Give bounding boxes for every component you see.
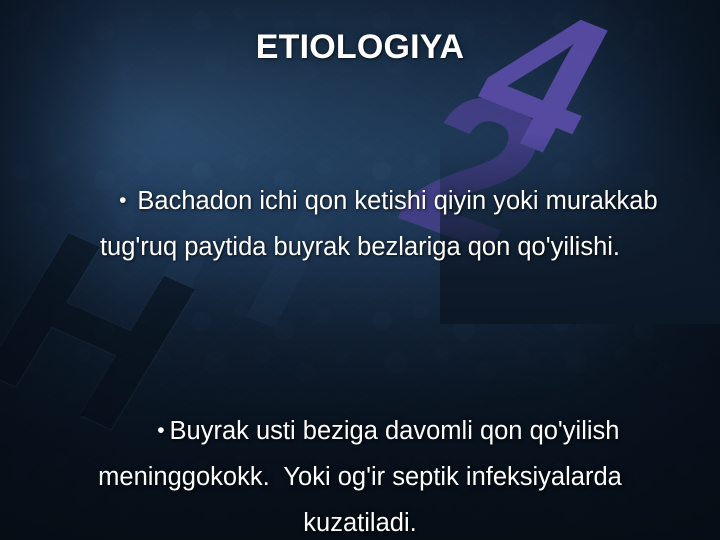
bullet-paragraph-2-text: Buyrak usti beziga davomli qon qo'yilish… (98, 417, 629, 537)
bullet-paragraph-1-text: Bachadon ichi qon ketishi qiyin yoki mur… (100, 187, 665, 261)
bullet-paragraph-1: •Bachadon ichi qon ketishi qiyin yoki mu… (50, 132, 670, 316)
page-title: ETIOLOGIYA (0, 28, 720, 67)
presentation-slide: H H 2 4 ETIOLOGIYA •Bachadon ichi qon ke… (0, 0, 720, 540)
bullet-paragraph-2: •Buyrak usti beziga davomli qon qo'yilis… (50, 362, 670, 540)
slide-content: ETIOLOGIYA •Bachadon ichi qon ketishi qi… (0, 0, 720, 540)
bullet-icon: • (157, 419, 164, 442)
slide-body: •Bachadon ichi qon ketishi qiyin yoki mu… (50, 132, 670, 540)
bullet-icon: • (119, 189, 126, 212)
